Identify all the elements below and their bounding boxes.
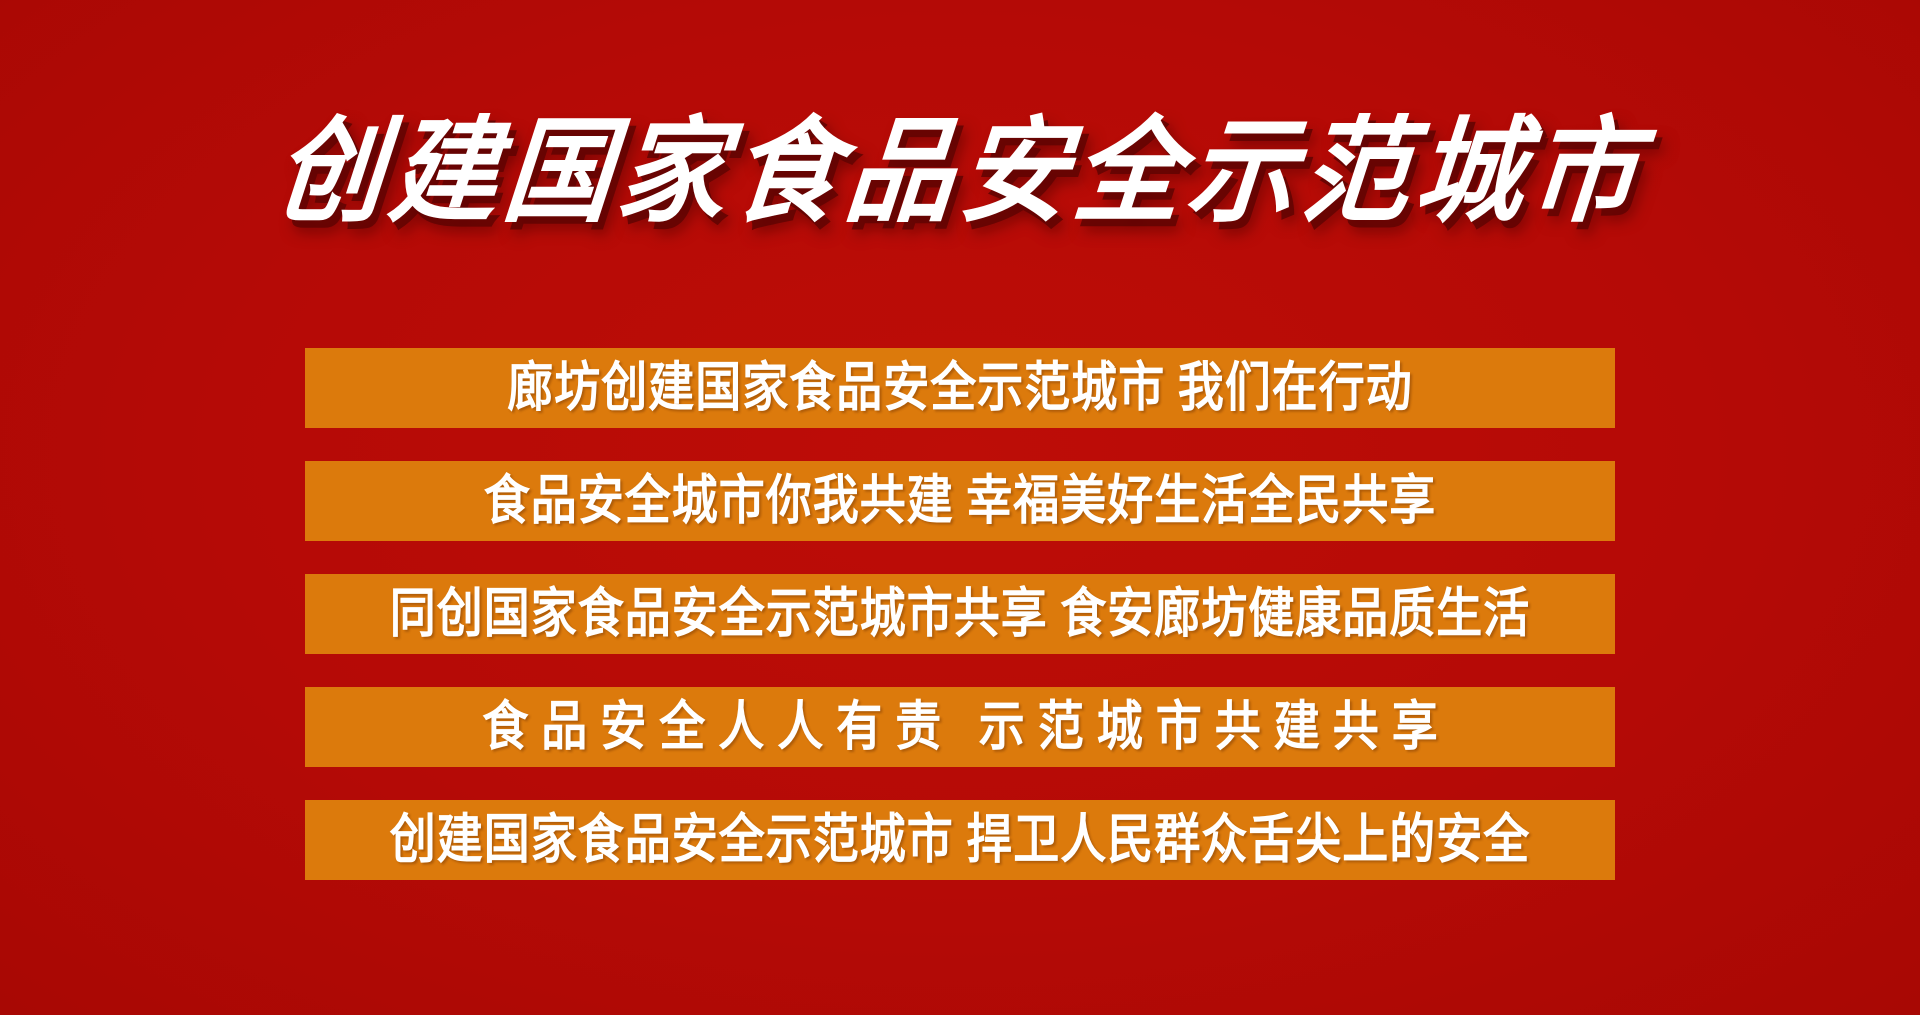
- slogan-banner-4: 食品安全人人有责 示范城市共建共享: [305, 687, 1615, 767]
- slogan-banner-1: 廊坊创建国家食品安全示范城市 我们在行动: [305, 348, 1615, 428]
- slogan-banner-5: 创建国家食品安全示范城市 捍卫人民群众舌尖上的安全: [305, 800, 1615, 880]
- slogan-text-2: 食品安全城市你我共建 幸福美好生活全民共享: [484, 474, 1437, 527]
- poster-title-block: 创建国家食品安全示范城市: [0, 112, 1920, 233]
- slogan-list: 廊坊创建国家食品安全示范城市 我们在行动 食品安全城市你我共建 幸福美好生活全民…: [305, 348, 1615, 880]
- slogan-text-5: 创建国家食品安全示范城市 捍卫人民群众舌尖上的安全: [390, 813, 1531, 866]
- slogan-text-1: 廊坊创建国家食品安全示范城市 我们在行动: [507, 361, 1413, 414]
- page-title: 创建国家食品安全示范城市: [260, 108, 1659, 236]
- slogan-banner-2: 食品安全城市你我共建 幸福美好生活全民共享: [305, 461, 1615, 541]
- poster-root: 创建国家食品安全示范城市 廊坊创建国家食品安全示范城市 我们在行动 食品安全城市…: [0, 0, 1920, 1015]
- slogan-banner-3: 同创国家食品安全示范城市共享 食安廊坊健康品质生活: [305, 574, 1615, 654]
- slogan-text-3: 同创国家食品安全示范城市共享 食安廊坊健康品质生活: [390, 587, 1531, 640]
- slogan-text-4: 食品安全人人有责 示范城市共建共享: [469, 700, 1451, 753]
